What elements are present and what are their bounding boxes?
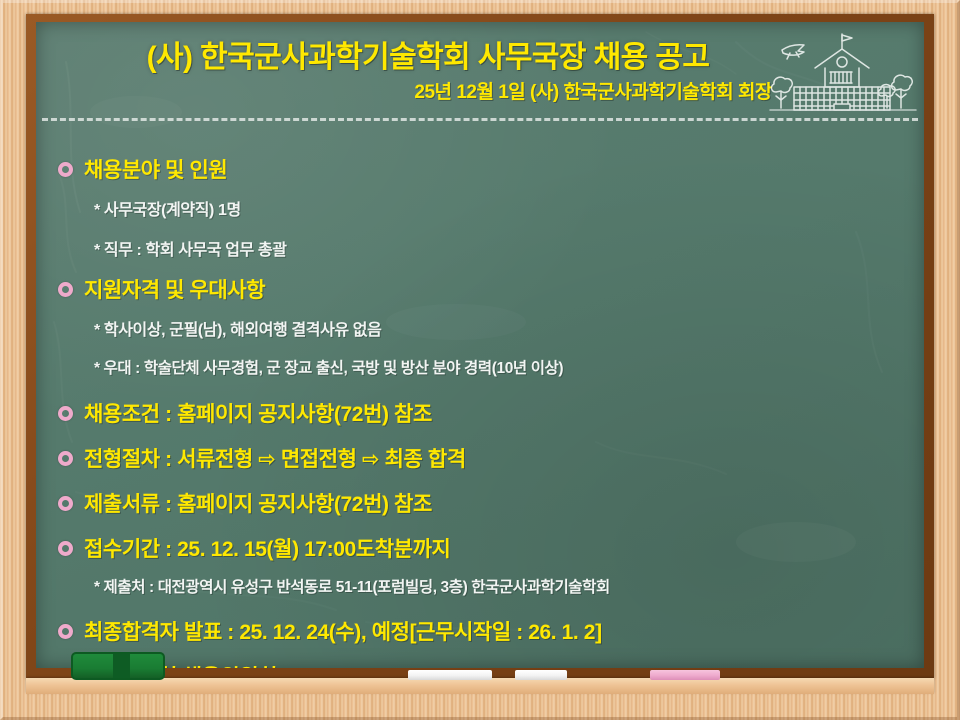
page-subtitle: 25년 12월 1일 (사) 한국군사과학기술학회 회장 [58, 77, 772, 104]
list-item-label: 최종합격자 발표 : 25. 12. 24(수), 예정[근무시작일 : 26.… [84, 616, 602, 646]
tree-icon-left [772, 77, 793, 108]
school-building-chalk-drawing [768, 30, 918, 118]
bullet-circle-icon [58, 406, 73, 421]
bullet-circle-icon [58, 496, 73, 511]
list-item: 제출서류 : 홈페이지 공지사항(72번) 참조 [36, 488, 432, 518]
list-item: 최종합격자 발표 : 25. 12. 24(수), 예정[근무시작일 : 26.… [36, 616, 602, 646]
list-subitem: * 우대 : 학술단체 사무경험, 군 장교 출신, 국방 및 방산 분야 경력… [94, 356, 563, 378]
chalkboard-eraser[interactable] [71, 652, 165, 680]
list-item-label: 전형절차 : 서류전형 ⇨ 면접전형 ⇨ 최종 합격 [84, 443, 466, 473]
bullet-circle-icon [58, 162, 73, 177]
airplane-icon [782, 45, 804, 59]
page-title: (사) 한국군사과학기술학회 사무국장 채용 공고 [58, 32, 798, 76]
list-item-label: 채용분야 및 인원 [84, 154, 227, 184]
list-item: 지원자격 및 우대사항 [36, 274, 265, 304]
bullet-circle-icon [58, 451, 73, 466]
list-item-label: 제출서류 : 홈페이지 공지사항(72번) 참조 [84, 488, 432, 518]
list-item: 접수기간 : 25. 12. 15(월) 17:00도착분까지 [36, 533, 450, 563]
bullet-circle-icon [58, 541, 73, 556]
chalk-ledge [26, 678, 934, 694]
chalk-stick-white[interactable] [515, 670, 567, 680]
list-subitem: * 제출처 : 대전광역시 유성구 반석동로 51-11(포럼빌딩, 3층) 한… [94, 575, 610, 597]
list-item: 채용조건 : 홈페이지 공지사항(72번) 참조 [36, 398, 432, 428]
poster-header: (사) 한국군사과학기술학회 사무국장 채용 공고 25년 12월 1일 (사)… [36, 22, 924, 119]
list-item-label: 지원자격 및 우대사항 [84, 274, 265, 304]
list-item: 전형절차 : 서류전형 ⇨ 면접전형 ⇨ 최종 합격 [36, 443, 466, 473]
chalkboard-surface: (사) 한국군사과학기술학회 사무국장 채용 공고 25년 12월 1일 (사)… [36, 22, 924, 668]
list-subitem: * 학사이상, 군필(남), 해외여행 결격사유 없음 [94, 316, 381, 340]
notice-body: 채용분야 및 인원 * 사무국장(계약직) 1명 * 직무 : 학회 사무국 업… [36, 126, 924, 668]
chalkboard-poster: (사) 한국군사과학기술학회 사무국장 채용 공고 25년 12월 1일 (사)… [0, 0, 960, 720]
bullet-circle-icon [58, 282, 73, 297]
list-subitem: * 사무국장(계약직) 1명 [94, 196, 241, 220]
eraser-center-band [113, 654, 130, 678]
list-item-label: 접수기간 : 25. 12. 15(월) 17:00도착분까지 [84, 533, 450, 563]
bullet-circle-icon [58, 624, 73, 639]
chalk-stick-white[interactable] [408, 670, 492, 680]
list-subitem: * 직무 : 학회 사무국 업무 총괄 [94, 236, 287, 260]
dashed-chalk-divider [42, 118, 918, 121]
list-item-label: 채용조건 : 홈페이지 공지사항(72번) 참조 [84, 398, 432, 428]
list-item: 채용분야 및 인원 [36, 154, 227, 184]
chalk-stick-pink[interactable] [650, 670, 720, 680]
